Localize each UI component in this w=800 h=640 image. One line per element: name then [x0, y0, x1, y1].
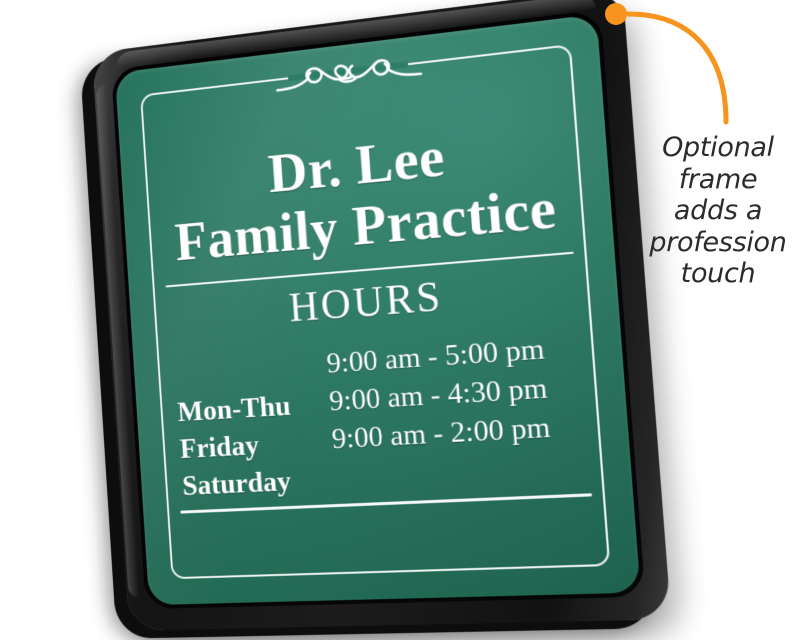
hours-day: Mon-Thu	[176, 388, 291, 432]
callout-curve	[628, 14, 726, 122]
hours-days-column: Mon-Thu Friday Saturday	[176, 388, 297, 505]
callout-caption-line: frame	[636, 164, 800, 196]
hours-times-column: 9:00 am - 5:00 pm 9:00 am - 4:30 pm 9:00…	[325, 331, 554, 498]
hours-day: Saturday	[181, 463, 297, 505]
callout-caption-line: Optional	[636, 132, 800, 164]
sign-hours-table: Mon-Thu Friday Saturday 9:00 am - 5:00 p…	[170, 328, 591, 505]
sign-product: Dr. Lee Family Practice HOURS Mon-Thu Fr…	[96, 18, 636, 624]
callout-caption-line: adds a	[636, 195, 800, 227]
callout-caption-line: profession	[636, 227, 800, 259]
product-photo-scene: Dr. Lee Family Practice HOURS Mon-Thu Fr…	[0, 0, 800, 640]
callout-caption-line: touch	[636, 258, 800, 290]
hours-day: Friday	[179, 425, 295, 468]
sign-3d-body: Dr. Lee Family Practice HOURS Mon-Thu Fr…	[92, 0, 671, 631]
hours-time: 9:00 am - 5:00 pm	[325, 331, 545, 384]
callout-caption: Optional frame adds a profession touch	[636, 132, 800, 290]
